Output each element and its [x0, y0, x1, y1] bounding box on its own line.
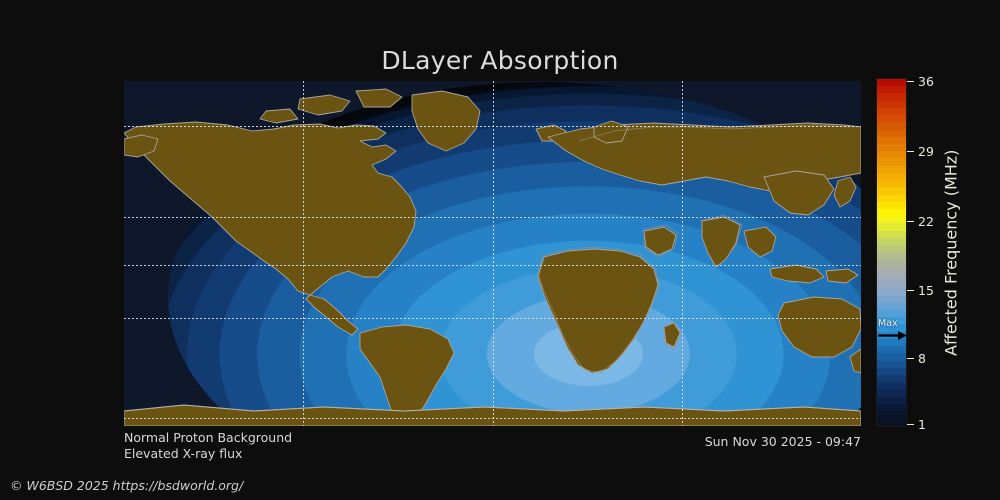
colorbar-band [877, 411, 906, 418]
colorbar-band [877, 216, 906, 223]
colorbar-band [877, 151, 906, 158]
colorbar-band [877, 296, 906, 303]
colorbar-tick-label: 22 [918, 214, 934, 229]
colorbar-band [877, 274, 906, 281]
map-plot[interactable] [124, 81, 861, 426]
colorbar-tick: 1 [907, 417, 926, 432]
colorbar-band [877, 252, 906, 259]
colorbar-band [877, 166, 906, 173]
colorbar-band [877, 108, 906, 115]
colorbar-band [877, 158, 906, 165]
colorbar-band [877, 281, 906, 288]
colorbar-band [877, 93, 906, 100]
colorbar-band [877, 144, 906, 151]
colorbar-tick: 36 [907, 74, 934, 89]
colorbar-tick-dash [907, 81, 914, 82]
colorbar-band [877, 324, 906, 331]
colorbar-tick-label: 36 [918, 74, 934, 89]
colorbar-band [877, 368, 906, 375]
colorbar-tick-dash [907, 151, 914, 152]
colorbar-band [877, 267, 906, 274]
colorbar-band [877, 317, 906, 324]
colorbar-band [877, 137, 906, 144]
world-map-svg [124, 81, 861, 426]
colorbar-axis-label: Affected Frequency (MHz) [938, 78, 964, 427]
colorbar-band [877, 404, 906, 411]
colorbar-band [877, 86, 906, 93]
colorbar-band [877, 288, 906, 295]
colorbar-band [877, 180, 906, 187]
colorbar-tick: 22 [907, 214, 934, 229]
colorbar-band [877, 332, 906, 339]
colorbar-tick-label: 8 [918, 351, 926, 366]
copyright-notice: © W6BSD 2025 https://bsdworld.org/ [10, 478, 243, 493]
colorbar-band [877, 389, 906, 396]
note-proton-background: Normal Proton Background [124, 430, 292, 445]
colorbar-band [877, 382, 906, 389]
colorbar-band [877, 339, 906, 346]
colorbar-tick: 8 [907, 351, 926, 366]
colorbar-band [877, 79, 906, 86]
colorbar-band [877, 115, 906, 122]
colorbar-band [877, 130, 906, 137]
page-title: DLayer Absorption [0, 46, 1000, 75]
colorbar-tick-dash [907, 358, 914, 359]
colorbar-tick-label: 29 [918, 144, 934, 159]
note-xray-flux: Elevated X-ray flux [124, 446, 242, 461]
colorbar-tick-dash [907, 290, 914, 291]
colorbar-band [877, 418, 906, 425]
colorbar-tick-dash [907, 424, 914, 425]
page-root: DLayer Absorption [0, 0, 1000, 500]
colorbar-band [877, 375, 906, 382]
colorbar-band [877, 353, 906, 360]
colorbar-band [877, 173, 906, 180]
colorbar-band [877, 238, 906, 245]
colorbar-band [877, 231, 906, 238]
colorbar-tick: 29 [907, 144, 934, 159]
colorbar-tick-dash [907, 221, 914, 222]
colorbar-tick-label: 15 [918, 283, 934, 298]
colorbar-band [877, 361, 906, 368]
colorbar-band [877, 346, 906, 353]
colorbar-tick: 15 [907, 283, 934, 298]
colorbar-band [877, 310, 906, 317]
colorbar-band [877, 195, 906, 202]
colorbar-band [877, 303, 906, 310]
colorbar-band [877, 209, 906, 216]
colorbar[interactable] [876, 78, 907, 427]
colorbar-band [877, 202, 906, 209]
timestamp: Sun Nov 30 2025 - 09:47 [705, 434, 861, 449]
colorbar-band [877, 101, 906, 108]
colorbar-band [877, 187, 906, 194]
colorbar-tick-label: 1 [918, 417, 926, 432]
colorbar-band [877, 122, 906, 129]
colorbar-band [877, 397, 906, 404]
colorbar-band [877, 259, 906, 266]
colorbar-band [877, 245, 906, 252]
colorbar-band [877, 223, 906, 230]
